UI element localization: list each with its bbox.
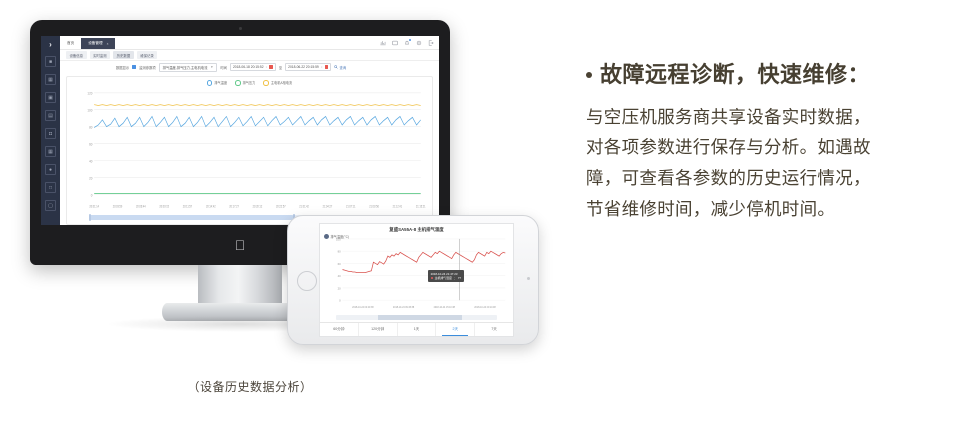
svg-text:60: 60 <box>338 262 341 266</box>
sidebar-item-grid[interactable]: ▦ <box>45 146 56 157</box>
start-date-input[interactable]: 2018-06-18 20:15:52 × <box>230 63 276 71</box>
calendar-icon[interactable] <box>269 65 273 69</box>
message-icon[interactable] <box>392 40 398 46</box>
svg-text:20:14:42: 20:14:42 <box>206 204 216 209</box>
slide-canvas: › ■ ▦ ▣ ▤ ◘ ▦ ● □ ▢ 首页 <box>0 0 970 422</box>
apple-logo-icon:  <box>234 238 246 252</box>
svg-text:120: 120 <box>87 91 92 96</box>
tooltip-value-row: 主机排气温度 ： 77 <box>431 276 461 280</box>
svg-text:80: 80 <box>338 249 341 253</box>
history-chart-card: 排气温度 排气压力 主电机A相电流 0 <box>66 76 433 225</box>
tab-close-icon[interactable]: × <box>107 42 109 46</box>
param-label: 监测参数项 <box>139 65 155 70</box>
logout-icon[interactable] <box>428 40 434 46</box>
tooltip-value: 77 <box>458 276 461 280</box>
subtab-maintenance[interactable]: 维保记录 <box>137 51 158 59</box>
svg-text:21:04:27: 21:04:27 <box>323 204 333 209</box>
svg-text:21:15:21: 21:15:21 <box>416 204 426 209</box>
legend-marker-pressure <box>235 80 241 86</box>
bell-icon[interactable] <box>404 40 410 46</box>
svg-text:20:11:57: 20:11:57 <box>183 204 193 209</box>
sidebar-toggle-icon[interactable]: › <box>46 40 55 49</box>
data-zoom-handle-left[interactable] <box>89 214 91 221</box>
tab-home[interactable]: 首页 <box>60 38 81 49</box>
phone-tab-60min[interactable]: 60分钟 <box>320 323 359 336</box>
monitor-screen: › ■ ▦ ▣ ▤ ◘ ▦ ● □ ▢ 首页 <box>41 36 439 225</box>
legend-label-temp: 排气温度 <box>214 80 227 85</box>
phone-screen: 复盛SA55A-8 主机排气温度 排气温度(°C) 02040608010020… <box>319 223 514 337</box>
between-label: 至 <box>279 65 282 70</box>
legend-marker-temp <box>207 80 213 86</box>
svg-text:20:20:12: 20:20:12 <box>253 204 263 209</box>
tab-device-management-label: 设备管理 <box>88 41 102 46</box>
time-label: 时间 <box>220 65 227 70</box>
data-zoom-range[interactable] <box>89 215 293 220</box>
chart-icon[interactable] <box>380 40 386 46</box>
copy-heading-row: 故障远程诊断，快速维修： <box>586 60 946 90</box>
svg-text:20:01:14: 20:01:14 <box>89 204 99 209</box>
svg-text:20: 20 <box>338 286 341 290</box>
subtab-history[interactable]: 历史数据 <box>113 51 134 59</box>
clear-icon[interactable]: × <box>266 65 268 69</box>
chart-tooltip: 2018-10-24 21:47:23 主机排气温度 ： 77 <box>428 270 464 282</box>
start-date-value: 2018-06-18 20:15:52 <box>233 65 264 69</box>
copy-line-1: 与空压机服务商共享设备实时数据， <box>586 102 946 133</box>
tooltip-series: 主机排气温度 <box>435 276 452 280</box>
sidebar-item-briefcase[interactable]: ■ <box>45 56 56 67</box>
param-select[interactable]: 排气温度,排气压力,主电机电流 ▼ <box>159 63 218 72</box>
tooltip-sep: ： <box>453 276 456 280</box>
svg-text:0: 0 <box>339 298 341 302</box>
svg-text:100: 100 <box>87 108 92 113</box>
chart-legend: 排气温度 排气压力 主电机A相电流 <box>67 80 432 86</box>
tab-home-label: 首页 <box>67 41 74 46</box>
phone-data-zoom-range[interactable] <box>378 315 462 320</box>
web-app: › ■ ▦ ▣ ▤ ◘ ▦ ● □ ▢ 首页 <box>41 36 439 225</box>
param-select-value: 排气温度,排气压力,主电机电流 <box>163 65 208 70</box>
tab-device-management[interactable]: 设备管理 × <box>81 38 115 49</box>
notification-badge <box>409 39 411 41</box>
phone-tab-1day[interactable]: 1天 <box>398 323 437 336</box>
webcam-icon <box>239 27 242 30</box>
phone-data-zoom-slider[interactable] <box>336 315 497 320</box>
desktop-line-chart: 02040608010012020:01:1420:03:5920:06:442… <box>73 88 426 214</box>
calendar-icon-end[interactable] <box>325 65 329 69</box>
figure-caption: （设备历史数据分析） <box>160 378 340 395</box>
module-subtabs: 设备信息 实时监测 历史数据 维保记录 <box>60 50 439 61</box>
chevron-down-icon: ▼ <box>210 65 213 69</box>
end-date-input[interactable]: 2018-06-22 20:15:59 × <box>285 63 331 71</box>
svg-text:2018-10-24 20:14:08: 2018-10-24 20:14:08 <box>474 306 496 309</box>
search-icon <box>334 65 338 69</box>
sidebar-item-cart[interactable]: ▢ <box>45 200 56 211</box>
sidebar-item-users[interactable]: ◘ <box>45 128 56 139</box>
speaker-icon <box>527 277 530 280</box>
svg-text:21:12:41: 21:12:41 <box>393 204 403 209</box>
subtab-realtime[interactable]: 实时监测 <box>90 51 111 59</box>
svg-text:20:09:15: 20:09:15 <box>159 204 169 209</box>
svg-text:2018-10-24 04:20:38: 2018-10-24 04:20:38 <box>352 306 374 309</box>
phone-tab-7day[interactable]: 7天 <box>475 323 513 336</box>
legend-label-current: 主电机A相电流 <box>271 80 292 85</box>
marketing-copy: 故障远程诊断，快速维修： 与空压机服务商共享设备实时数据， 对各项参数进行保存与… <box>586 60 946 224</box>
sidebar-item-lock[interactable]: □ <box>45 182 56 193</box>
header-icon-group <box>380 40 434 46</box>
copy-line-4: 节省维修时间，减少停机时间。 <box>586 194 946 225</box>
svg-text:0: 0 <box>91 192 93 197</box>
svg-text:21:07:11: 21:07:11 <box>346 204 356 209</box>
app-main: 首页 设备管理 × <box>60 36 439 225</box>
svg-text:80: 80 <box>89 125 92 130</box>
subtab-device-info[interactable]: 设备信息 <box>66 51 87 59</box>
copy-heading: 故障远程诊断，快速维修： <box>600 60 870 90</box>
svg-text:2018-10-24 15:10:38: 2018-10-24 15:10:38 <box>434 306 456 309</box>
phone-line-chart: 0204060801002018-10-24 04:20:382018-10-2… <box>324 235 509 314</box>
copy-body: 与空压机服务商共享设备实时数据， 对各项参数进行保存与分析。如遇故 障，可查看各… <box>586 102 946 225</box>
bullet-icon <box>586 72 592 78</box>
phone-tab-2day[interactable]: 2天 <box>436 323 475 336</box>
svg-text:40: 40 <box>338 274 341 278</box>
phone-mockup: 复盛SA55A-8 主机排气温度 排气温度(°C) 02040608010020… <box>287 215 539 345</box>
legend-item-current[interactable]: 主电机A相电流 <box>263 80 292 86</box>
clear-icon-end[interactable]: × <box>321 65 323 69</box>
svg-text:20:17:27: 20:17:27 <box>229 204 239 209</box>
svg-text:20:06:44: 20:06:44 <box>136 204 146 209</box>
end-date-value: 2018-06-22 20:15:59 <box>288 65 319 69</box>
legend-item-temp[interactable]: 排气温度 <box>207 80 227 86</box>
svg-text:21:01:42: 21:01:42 <box>299 204 309 209</box>
svg-text:20: 20 <box>89 175 92 180</box>
copy-line-2: 对各项参数进行保存与分析。如遇故 <box>586 132 946 163</box>
search-button[interactable]: 查询 <box>334 65 346 70</box>
sidebar-item-clipboard[interactable]: ▤ <box>45 110 56 121</box>
svg-text:20:03:59: 20:03:59 <box>113 204 123 209</box>
copy-line-3: 障，可查看各参数的历史运行情况， <box>586 163 946 194</box>
sidebar-item-bell[interactable]: ● <box>45 164 56 175</box>
phone-page-title: 复盛SA55A-8 主机排气温度 <box>320 224 513 234</box>
svg-text:2018-10-24 09:45:38: 2018-10-24 09:45:38 <box>393 306 415 309</box>
filter-bar: 数据显示 监测参数项 排气温度,排气压力,主电机电流 ▼ 时间 2018-06-… <box>60 61 439 73</box>
tooltip-marker-icon <box>431 277 434 280</box>
svg-text:100: 100 <box>336 237 341 241</box>
app-sidebar[interactable]: › ■ ▦ ▣ ▤ ◘ ▦ ● □ ▢ <box>41 36 60 225</box>
legend-label-pressure: 排气压力 <box>243 80 256 85</box>
svg-text:40: 40 <box>89 159 92 164</box>
phone-range-tabs: 60分钟 120分钟 1天 2天 7天 <box>320 322 513 336</box>
svg-text:60: 60 <box>89 142 92 147</box>
home-button-icon[interactable] <box>297 271 317 291</box>
gear-icon[interactable] <box>416 40 422 46</box>
legend-item-pressure[interactable]: 排气压力 <box>235 80 255 86</box>
app-tabbar: 首页 设备管理 × <box>60 36 439 50</box>
legend-marker-current <box>263 80 269 86</box>
multi-display-checkbox[interactable] <box>132 65 136 69</box>
sidebar-item-factory[interactable]: ▦ <box>45 74 56 85</box>
svg-text:20:22:57: 20:22:57 <box>276 204 286 209</box>
sidebar-item-box[interactable]: ▣ <box>45 92 56 103</box>
search-button-label: 查询 <box>340 65 347 70</box>
svg-text:21:09:56: 21:09:56 <box>369 204 379 209</box>
multi-display-label: 数据显示 <box>116 65 129 70</box>
phone-tab-120min[interactable]: 120分钟 <box>359 323 398 336</box>
